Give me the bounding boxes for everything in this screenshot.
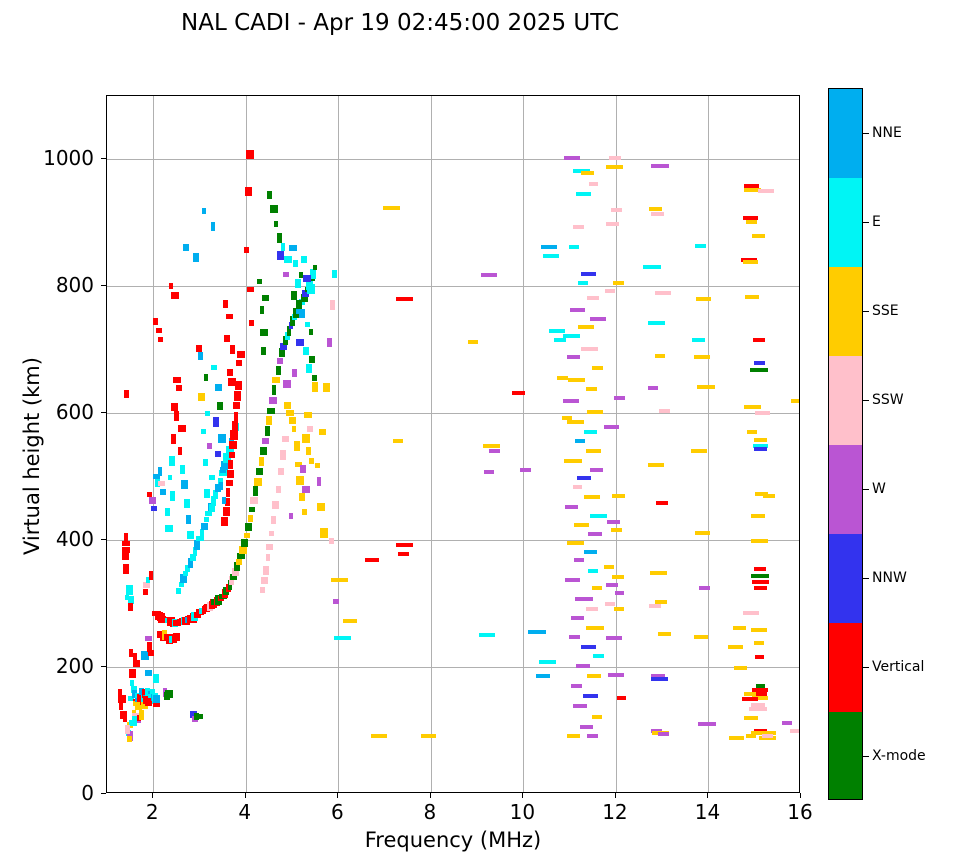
echo-point — [749, 707, 767, 711]
echo-point — [763, 494, 775, 498]
echo-point — [587, 674, 601, 678]
echo-point — [754, 586, 767, 590]
echo-point — [124, 533, 128, 541]
echo-point — [127, 736, 132, 742]
echo-point — [262, 438, 269, 444]
echo-point — [758, 189, 774, 193]
echo-point — [573, 704, 587, 708]
echo-point — [296, 300, 302, 309]
echo-point — [604, 425, 619, 429]
echo-point — [262, 295, 269, 301]
gridline-horizontal — [107, 159, 799, 160]
echo-point — [248, 515, 253, 522]
echo-point — [309, 329, 313, 335]
echo-point — [124, 390, 129, 398]
echo-point — [220, 467, 226, 473]
gridline-vertical — [523, 96, 524, 792]
echo-point — [301, 256, 307, 263]
echo-point — [751, 539, 768, 543]
echo-point — [581, 171, 594, 175]
echo-point — [750, 368, 768, 372]
echo-point — [327, 338, 332, 347]
echo-point — [694, 635, 708, 639]
echo-point — [586, 449, 601, 453]
echo-point — [170, 491, 175, 501]
echo-point — [334, 636, 351, 640]
echo-point — [126, 585, 133, 595]
colorbar-label-nne: NNE — [872, 125, 902, 141]
echo-point — [274, 221, 278, 227]
echo-point — [590, 468, 603, 472]
echo-point — [158, 481, 165, 486]
echo-point — [614, 396, 625, 400]
echo-point — [751, 574, 769, 578]
echo-point — [584, 430, 597, 434]
echo-point — [746, 220, 757, 224]
echo-point — [176, 385, 182, 391]
y-tick-label: 0 — [30, 781, 94, 805]
echo-point — [139, 710, 144, 720]
echo-point — [587, 296, 599, 300]
echo-point — [266, 544, 273, 550]
echo-point — [543, 254, 559, 258]
echo-point — [658, 632, 671, 636]
echo-point — [317, 503, 325, 511]
echo-point — [744, 405, 761, 409]
gridline-vertical — [246, 96, 247, 792]
colorbar-segment-w[interactable] — [829, 445, 862, 534]
x-tick-label: 10 — [510, 800, 535, 824]
echo-point — [226, 488, 230, 497]
echo-point — [277, 358, 283, 364]
echo-point — [580, 725, 593, 729]
echo-point — [791, 399, 800, 403]
echo-point — [698, 722, 716, 726]
echo-point — [697, 385, 715, 389]
echo-point — [194, 540, 200, 550]
echo-point — [286, 410, 294, 416]
echo-point — [180, 465, 185, 474]
echo-point — [569, 245, 579, 249]
echo-point — [745, 295, 759, 299]
echo-point — [655, 291, 671, 295]
echo-point — [267, 408, 275, 414]
echo-point — [571, 684, 582, 688]
echo-point — [260, 587, 265, 593]
gridline-horizontal — [107, 413, 799, 414]
echo-point — [584, 495, 600, 499]
colorbar-segment-e[interactable] — [829, 178, 862, 267]
echo-point — [230, 345, 235, 354]
echo-point — [165, 525, 173, 532]
echo-point — [249, 320, 254, 326]
echo-point — [179, 582, 184, 587]
echo-point — [153, 318, 158, 325]
echo-point — [310, 269, 316, 279]
echo-point — [123, 717, 127, 722]
x-tick-label: 16 — [787, 800, 812, 824]
plot-area[interactable] — [106, 95, 800, 793]
echo-point — [695, 244, 706, 248]
echo-point — [158, 337, 163, 342]
echo-point — [270, 205, 278, 213]
echo-point — [253, 486, 258, 496]
y-tick — [101, 793, 106, 794]
echo-point — [147, 492, 152, 497]
colorbar-label-ssw: SSW — [872, 392, 904, 408]
echo-point — [319, 429, 326, 435]
echo-point — [223, 507, 230, 516]
echo-point — [218, 434, 226, 443]
echo-point — [207, 443, 212, 449]
x-tick-label: 4 — [238, 800, 251, 824]
echo-point — [575, 597, 593, 601]
echo-point — [468, 340, 478, 344]
echo-point — [205, 411, 210, 416]
echo-point — [276, 366, 281, 375]
echo-point — [245, 523, 252, 531]
echo-point — [744, 716, 758, 720]
colorbar-label-x-mode: X-mode — [872, 748, 926, 764]
echo-point — [295, 279, 301, 288]
echo-point — [751, 514, 765, 518]
echo-point — [236, 559, 242, 565]
echo-point — [651, 164, 669, 168]
echo-point — [303, 347, 309, 355]
echo-point — [577, 476, 591, 480]
gridline-horizontal — [107, 540, 799, 541]
echo-point — [209, 504, 215, 512]
echo-point — [178, 447, 182, 455]
colorbar-tick — [863, 756, 869, 757]
echo-point — [223, 300, 228, 308]
echo-point — [160, 489, 166, 495]
echo-point — [215, 451, 221, 457]
echo-point — [125, 725, 130, 734]
echo-point — [574, 523, 589, 527]
colorbar-tick — [863, 133, 869, 134]
echo-point — [217, 402, 223, 410]
y-tick-label: 800 — [30, 273, 94, 297]
echo-point — [586, 626, 604, 630]
x-tick — [615, 793, 616, 798]
echo-point — [578, 325, 594, 329]
echo-point — [323, 383, 330, 392]
echo-point — [224, 335, 230, 342]
echo-point — [484, 470, 494, 474]
echo-point — [171, 434, 176, 444]
echo-point — [651, 677, 668, 681]
echo-point — [204, 517, 209, 522]
y-axis-label: Virtual height (km) — [20, 306, 44, 606]
echo-point — [752, 580, 769, 584]
gridline-horizontal — [107, 286, 799, 287]
echo-point — [221, 517, 228, 526]
echo-point — [237, 553, 245, 559]
echo-point — [694, 355, 710, 359]
echo-point — [125, 595, 129, 600]
echo-point — [153, 695, 160, 703]
x-tick — [430, 793, 431, 798]
echo-point — [246, 150, 254, 159]
echo-point — [692, 338, 705, 342]
echo-point — [232, 421, 238, 430]
echo-point — [226, 480, 233, 486]
echo-point — [307, 284, 315, 294]
echo-point — [609, 156, 621, 160]
echo-point — [581, 347, 598, 351]
x-axis-label: Frequency (MHz) — [106, 828, 800, 852]
echo-point — [269, 397, 277, 404]
echo-point — [696, 297, 711, 301]
echo-point — [305, 322, 310, 327]
echo-point — [648, 463, 664, 467]
echo-point — [588, 569, 598, 573]
echo-point — [587, 410, 603, 414]
echo-point — [608, 673, 624, 677]
echo-point — [289, 513, 293, 519]
echo-point — [278, 468, 284, 475]
echo-point — [173, 377, 181, 383]
echo-point — [590, 514, 607, 518]
echo-point — [565, 505, 578, 509]
echo-point — [183, 244, 189, 251]
echo-point — [754, 438, 767, 442]
colorbar-segment-nnw[interactable] — [829, 534, 862, 623]
echo-point — [421, 734, 436, 738]
echo-point — [151, 506, 157, 511]
echo-point — [563, 399, 579, 403]
colorbar-segment-nne[interactable] — [829, 89, 862, 178]
y-tick — [101, 285, 106, 286]
echo-point — [612, 494, 625, 498]
echo-point — [229, 441, 237, 449]
echo-point — [213, 417, 219, 427]
echo-point — [743, 611, 759, 615]
echo-point — [260, 329, 268, 336]
echo-point — [263, 566, 269, 575]
echo-point — [277, 233, 282, 243]
colorbar-tick — [863, 578, 869, 579]
echo-point — [587, 734, 598, 738]
echo-point — [280, 450, 286, 460]
echo-point — [575, 439, 585, 443]
x-tick — [245, 793, 246, 798]
echo-point — [145, 636, 152, 641]
echo-point — [615, 591, 624, 595]
colorbar-tick — [863, 311, 869, 312]
echo-point — [204, 374, 208, 381]
echo-point — [236, 360, 242, 366]
echo-point — [568, 378, 585, 382]
echo-point — [271, 516, 276, 524]
echo-point — [269, 531, 274, 536]
colorbar-tick — [863, 222, 869, 223]
colorbar-label-w: W — [872, 481, 886, 497]
echo-point — [365, 558, 379, 562]
echo-point — [576, 664, 590, 668]
echo-point — [296, 339, 304, 346]
echo-point — [733, 626, 746, 630]
echo-point — [257, 279, 262, 284]
echo-point — [149, 497, 156, 504]
echo-point — [149, 571, 153, 580]
echo-point — [584, 550, 597, 554]
echo-point — [574, 558, 584, 562]
colorbar-segment-vertical[interactable] — [829, 623, 862, 712]
echo-point — [307, 426, 313, 432]
echo-point — [129, 720, 135, 726]
echo-point — [747, 430, 757, 434]
echo-point — [244, 533, 250, 538]
echo-point — [168, 475, 172, 480]
colorbar-segment-ssw[interactable] — [829, 356, 862, 445]
colorbar-label-sse: SSE — [872, 303, 899, 319]
echo-point — [282, 436, 289, 442]
echo-point — [743, 260, 758, 264]
echo-point — [171, 403, 178, 411]
echo-point — [256, 468, 263, 475]
x-tick-label: 12 — [602, 800, 627, 824]
echo-point — [312, 382, 318, 392]
echo-point — [567, 420, 584, 424]
echo-point — [294, 441, 300, 451]
echo-point — [573, 485, 582, 489]
echo-point — [729, 736, 744, 740]
colorbar-segment-x-mode[interactable] — [829, 712, 862, 800]
echo-point — [762, 734, 773, 738]
echo-point — [755, 411, 770, 415]
echo-point — [754, 641, 764, 645]
echo-point — [528, 630, 546, 634]
echo-point — [211, 365, 217, 370]
echo-point — [203, 459, 208, 466]
echo-point — [782, 721, 792, 725]
colorbar-tick — [863, 667, 869, 668]
echo-point — [244, 247, 249, 253]
echo-point — [611, 208, 622, 212]
echo-point — [613, 281, 624, 285]
echo-point — [276, 486, 281, 493]
echo-point — [313, 265, 317, 270]
echo-point — [284, 256, 292, 263]
echo-point — [317, 477, 321, 486]
x-tick — [800, 793, 801, 798]
echo-point — [536, 674, 550, 678]
echo-point — [549, 329, 565, 333]
echo-point — [128, 603, 133, 611]
echo-point — [754, 447, 767, 451]
echo-point — [230, 430, 238, 440]
echo-point — [245, 187, 252, 196]
echo-point — [570, 308, 585, 312]
echo-point — [742, 697, 758, 701]
echo-point — [617, 696, 626, 700]
echo-point — [650, 571, 667, 575]
echo-point — [306, 364, 312, 373]
echo-point — [235, 381, 242, 390]
echo-point — [606, 165, 623, 169]
echo-point — [592, 366, 603, 370]
echo-point — [564, 459, 582, 463]
echo-point — [267, 191, 272, 199]
x-tick-label: 6 — [331, 800, 344, 824]
echo-point — [651, 212, 664, 216]
echo-point — [606, 636, 622, 640]
echo-point — [129, 669, 136, 678]
echo-point — [752, 234, 765, 238]
echo-point — [202, 208, 206, 214]
echo-point — [119, 700, 123, 710]
echo-point — [250, 497, 258, 504]
echo-point — [658, 732, 669, 736]
echo-point — [744, 692, 756, 696]
echo-point — [174, 411, 179, 421]
echo-point — [229, 452, 235, 458]
echo-point — [156, 328, 162, 333]
echo-point — [198, 352, 203, 360]
echo-point — [228, 460, 233, 469]
echo-point — [272, 377, 280, 383]
echo-point — [241, 539, 248, 547]
echo-point — [296, 476, 304, 485]
echo-point — [567, 355, 580, 359]
echo-point — [655, 354, 665, 358]
echo-point — [249, 507, 255, 512]
echo-point — [265, 426, 270, 436]
colorbar-label-vertical: Vertical — [872, 659, 924, 675]
colorbar-segment-sse[interactable] — [829, 267, 862, 356]
echo-point — [586, 607, 598, 611]
azimuth-colorbar[interactable] — [828, 88, 863, 800]
echo-point — [330, 300, 335, 310]
echo-point — [260, 447, 267, 455]
echo-point — [201, 429, 206, 434]
x-tick — [152, 793, 153, 798]
echo-point — [699, 586, 710, 590]
echo-point — [483, 444, 500, 448]
echo-point — [315, 463, 320, 468]
echo-point — [237, 351, 245, 358]
echo-point — [193, 253, 199, 262]
echo-point — [303, 275, 311, 282]
echo-point — [564, 156, 580, 160]
echo-point — [605, 602, 615, 606]
echo-point — [165, 508, 170, 516]
echo-point — [272, 385, 276, 395]
echo-point — [261, 577, 268, 584]
echo-point — [299, 309, 305, 318]
echo-point — [605, 289, 615, 293]
echo-point — [481, 273, 497, 277]
echo-point — [383, 206, 400, 210]
echo-point — [266, 416, 272, 425]
echo-point — [293, 260, 298, 267]
echo-point — [123, 564, 129, 574]
y-tick — [101, 666, 106, 667]
echo-point — [171, 292, 179, 299]
echo-point — [320, 528, 328, 538]
echo-point — [283, 272, 289, 277]
echo-point — [589, 182, 598, 186]
echo-point — [604, 565, 614, 569]
echo-point — [593, 654, 604, 658]
echo-point — [219, 482, 223, 490]
echo-point — [592, 715, 602, 719]
echo-point — [565, 578, 580, 582]
gridline-vertical — [431, 96, 432, 792]
echo-point — [728, 645, 743, 649]
